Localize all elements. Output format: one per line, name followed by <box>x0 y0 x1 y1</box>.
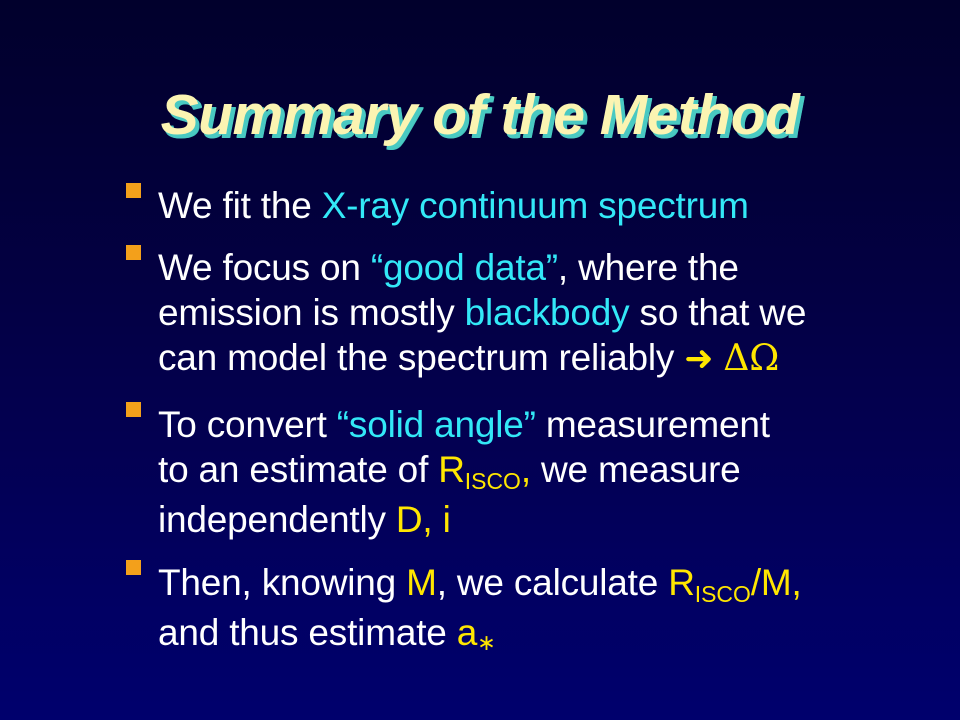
text-line: To convert “solid angle” measurement <box>158 402 940 447</box>
text-span: we measure <box>531 449 741 490</box>
text-span: to an estimate of <box>158 449 438 490</box>
bullet-spacer <box>126 382 940 402</box>
text-span: ΔΩ <box>723 336 779 379</box>
text-span: blackbody <box>465 292 630 333</box>
text-line: Then, knowing M, we calculate RISCO/M, <box>158 560 940 610</box>
bullet-list: We fit the X-ray continuum spectrumWe fo… <box>126 183 940 661</box>
text-span: We focus on <box>158 247 371 288</box>
text-line: can model the spectrum reliably ➜ ΔΩ <box>158 335 940 382</box>
text-span: ISCO <box>695 581 751 607</box>
list-item-text: We fit the X-ray continuum spectrum <box>158 183 940 228</box>
list-item-text: To convert “solid angle” measurementto a… <box>158 402 940 542</box>
text-span: R <box>668 562 695 603</box>
text-span: Then, knowing <box>158 562 406 603</box>
list-item-text: We focus on “good data”, where theemissi… <box>158 245 940 382</box>
text-line: and thus estimate a∗ <box>158 610 940 661</box>
text-span: , where the <box>558 247 739 288</box>
page-title: Summary of the Method <box>161 84 800 146</box>
text-span: X-ray continuum spectrum <box>322 185 749 226</box>
text-line: We focus on “good data”, where the <box>158 245 940 290</box>
presentation-slide: Summary of the Method We fit the X-ray c… <box>0 0 960 720</box>
list-item: We fit the X-ray continuum spectrum <box>126 183 940 228</box>
square-bullet-icon <box>126 183 141 198</box>
text-line: emission is mostly blackbody so that we <box>158 290 940 335</box>
bullet-spacer <box>126 542 940 560</box>
text-span: ∗ <box>477 630 495 656</box>
text-line: independently D, i <box>158 497 940 542</box>
text-span: R <box>438 449 465 490</box>
text-span: “solid angle” <box>337 404 536 445</box>
text-span: and thus estimate <box>158 612 457 653</box>
text-span: measurement <box>536 404 770 445</box>
list-item: To convert “solid angle” measurementto a… <box>126 402 940 542</box>
text-span: a <box>457 612 477 653</box>
text-span: /M, <box>751 562 802 603</box>
list-item: Then, knowing M, we calculate RISCO/M,an… <box>126 560 940 661</box>
text-span: We fit the <box>158 185 322 226</box>
text-span: To convert <box>158 404 337 445</box>
list-item-text: Then, knowing M, we calculate RISCO/M,an… <box>158 560 940 661</box>
bullet-spacer <box>126 228 940 245</box>
text-span: so that we <box>629 292 806 333</box>
list-item: We focus on “good data”, where theemissi… <box>126 245 940 382</box>
text-line: We fit the X-ray continuum spectrum <box>158 183 940 228</box>
square-bullet-icon <box>126 402 141 417</box>
text-span: ➜ <box>684 339 713 379</box>
text-span: ISCO <box>465 468 521 494</box>
text-span: independently <box>158 499 396 540</box>
text-span: , we calculate <box>437 562 668 603</box>
square-bullet-icon <box>126 560 141 575</box>
text-span <box>713 337 723 378</box>
text-span: can model the spectrum reliably <box>158 337 684 378</box>
text-span: emission is mostly <box>158 292 465 333</box>
square-bullet-icon <box>126 245 141 260</box>
text-span: M <box>406 562 437 603</box>
text-span: , <box>521 449 531 490</box>
text-span: D, i <box>396 499 451 540</box>
text-line: to an estimate of RISCO, we measure <box>158 447 940 497</box>
text-span: “good data” <box>371 247 558 288</box>
slide-title-container: Summary of the Method <box>0 84 960 146</box>
